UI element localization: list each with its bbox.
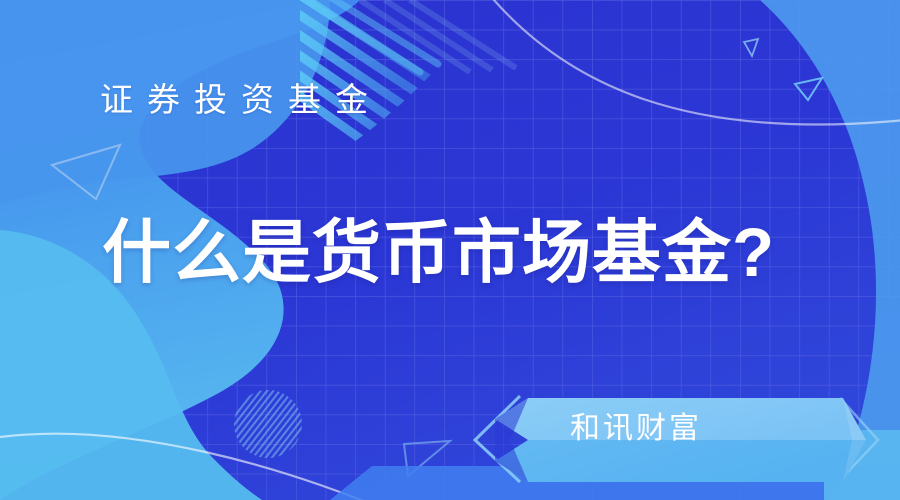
text-layer: 证券投资基金 什么是货币市场基金? 和讯财富 (0, 0, 900, 500)
poster-canvas: 证券投资基金 什么是货币市场基金? 和讯财富 (0, 0, 900, 500)
poster-main-title: 什么是货币市场基金? (102, 207, 775, 299)
brand-ribbon-label: 和讯财富 (570, 408, 702, 450)
poster-subtitle: 证券投资基金 (100, 78, 382, 122)
